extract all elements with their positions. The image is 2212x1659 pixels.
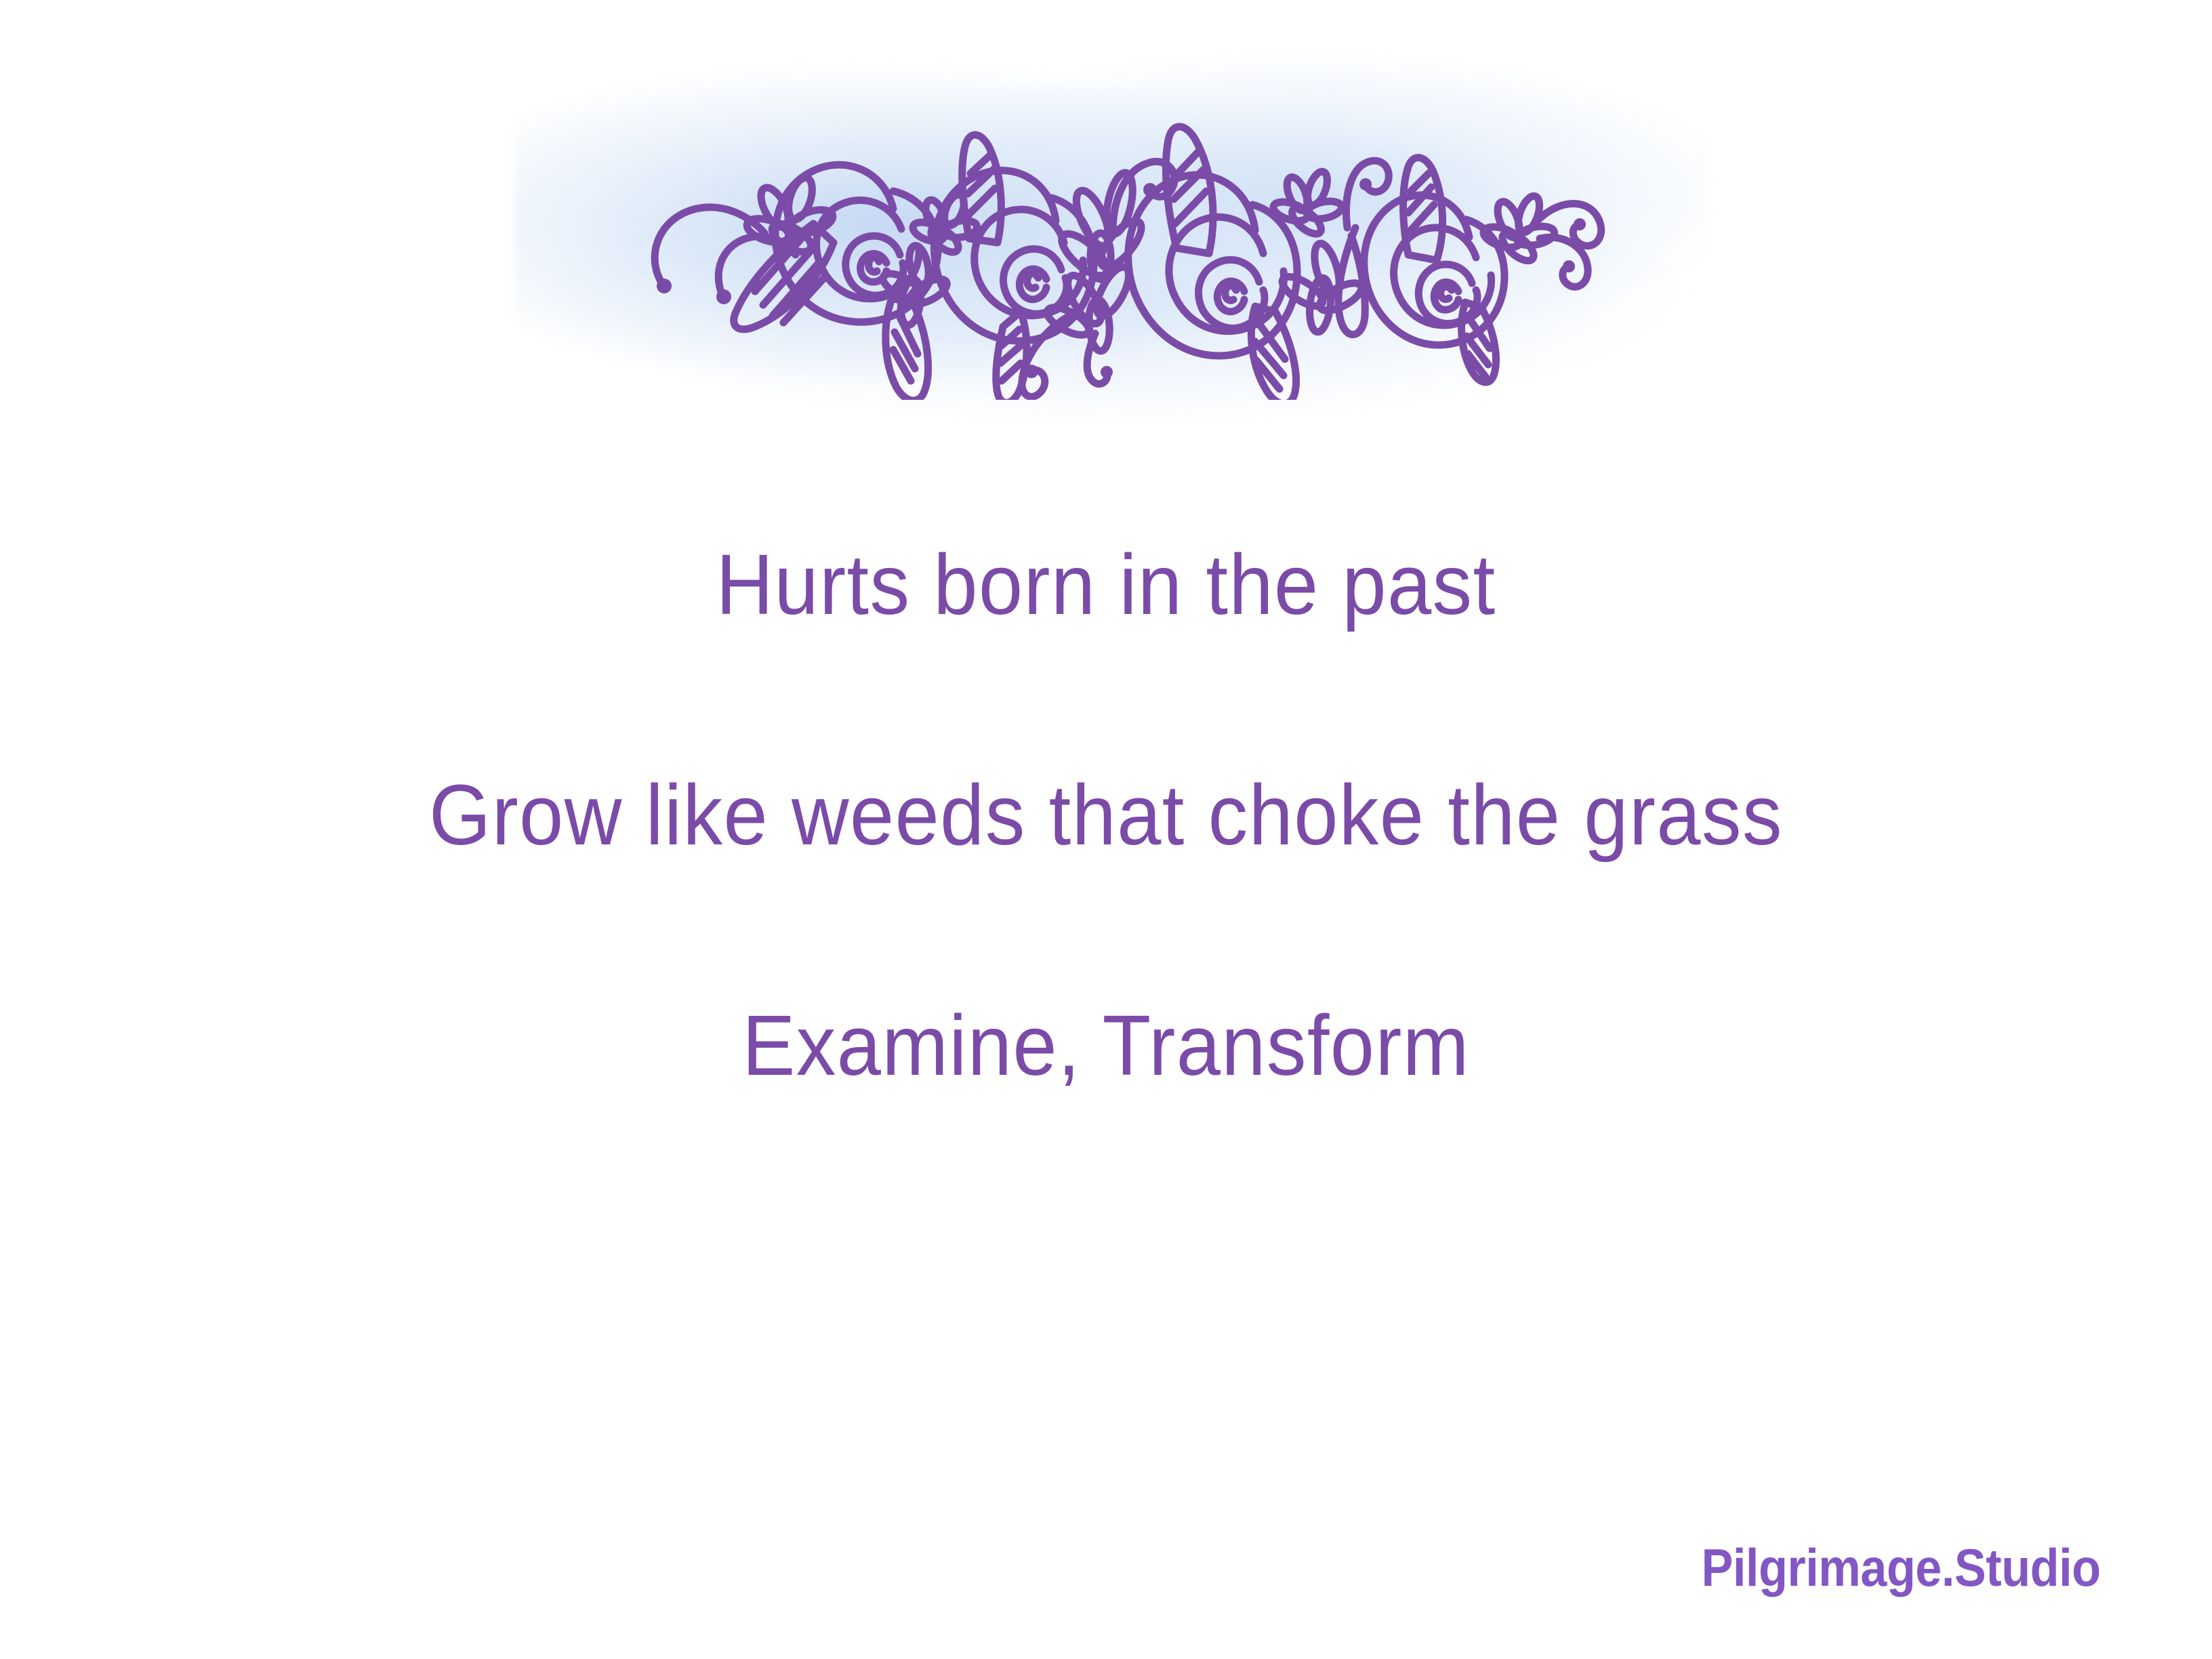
brand-wordmark[interactable]: Pilgrimage.Studio	[1702, 1541, 2101, 1594]
verse-spacer-2	[0, 858, 2212, 1003]
leaf-tall-right	[1404, 158, 1443, 260]
petal-cluster-right	[1278, 241, 1366, 333]
verse-block: Hurts born in the past Grow like weeds t…	[0, 542, 2212, 1088]
verse-spacer-1	[0, 628, 2212, 773]
quote-card: Hurts born in the past Grow like weeds t…	[0, 0, 2212, 1659]
floral-rose-divider-icon	[610, 88, 1606, 400]
rose-4	[1364, 195, 1504, 345]
verse-line-1: Hurts born in the past	[77, 542, 2135, 628]
verse-line-2: Grow like weeds that choke the grass	[77, 773, 2135, 858]
verse-line-3: Examine, Transform	[77, 1003, 2135, 1088]
small-flower-right	[1481, 193, 1556, 266]
